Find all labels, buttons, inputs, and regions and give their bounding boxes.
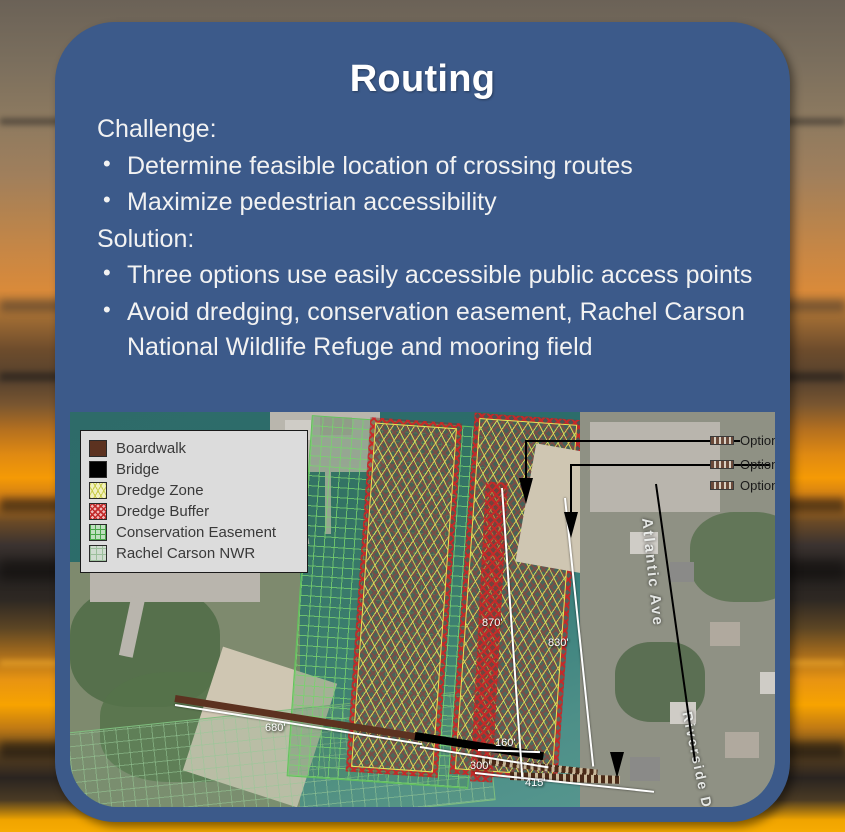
- building: [725, 732, 759, 758]
- challenge-bullet-list: Determine feasible location of crossing …: [97, 149, 767, 221]
- option-1-swatch: [710, 481, 734, 490]
- building: [760, 672, 775, 694]
- legend-item: Rachel Carson NWR: [89, 543, 299, 564]
- building: [670, 562, 694, 582]
- legend-swatch-conservation-easement: [89, 524, 107, 541]
- option-2-label: Option 2: [740, 457, 775, 472]
- legend-item: Dredge Zone: [89, 480, 299, 501]
- legend-swatch-dredge-zone: [89, 482, 107, 499]
- aerial-map: Atlantic Ave Riverside Dr 680' 300' 160'…: [70, 412, 775, 807]
- legend-item: Dredge Buffer: [89, 501, 299, 522]
- measurement-label: 830': [548, 637, 568, 649]
- legend-label: Conservation Easement: [116, 524, 276, 541]
- legend-label: Dredge Zone: [116, 482, 204, 499]
- list-item: Determine feasible location of crossing …: [97, 149, 767, 185]
- vegetation: [690, 512, 775, 602]
- list-item: Maximize pedestrian accessibility: [97, 185, 767, 221]
- legend-item: Boardwalk: [89, 438, 299, 459]
- legend-swatch-boardwalk: [89, 440, 107, 457]
- measurement-label: 680': [265, 722, 285, 734]
- section-heading-challenge: Challenge:: [97, 112, 767, 148]
- building: [710, 622, 740, 646]
- callout-arrow-option-1: [610, 752, 624, 778]
- parking-lot-right: [590, 422, 720, 512]
- legend-label: Boardwalk: [116, 440, 186, 457]
- building: [630, 757, 660, 781]
- option-1-label: Option 1: [740, 478, 775, 493]
- list-item: Avoid dredging, conservation easement, R…: [97, 295, 767, 366]
- section-heading-solution: Solution:: [97, 222, 767, 258]
- legend-label: Rachel Carson NWR: [116, 545, 255, 562]
- option-3-swatch: [710, 436, 734, 445]
- legend-swatch-bridge: [89, 461, 107, 478]
- legend-label: Bridge: [116, 461, 159, 478]
- legend-item: Bridge: [89, 459, 299, 480]
- leader-line-option-2: [570, 464, 572, 514]
- measurement-label: 300': [470, 760, 490, 772]
- legend-label: Dredge Buffer: [116, 503, 209, 520]
- content-panel: Routing Challenge: Determine feasible lo…: [55, 22, 790, 822]
- map-canvas: Atlantic Ave Riverside Dr 680' 300' 160'…: [70, 412, 775, 807]
- legend-item: Conservation Easement: [89, 522, 299, 543]
- callout-arrow-option-2: [564, 512, 578, 538]
- measurement-label: 415': [525, 777, 545, 789]
- map-legend: Boardwalk Bridge Dredge Zone Dredge Buff…: [80, 430, 308, 573]
- leader-line-option-3: [525, 440, 527, 480]
- option-3-label: Option 3: [740, 433, 775, 448]
- slide-body: Challenge: Determine feasible location o…: [97, 112, 767, 367]
- option-2-swatch: [710, 460, 734, 469]
- legend-swatch-rachel-carson-nwr: [89, 545, 107, 562]
- leader-line-option-3: [525, 440, 740, 442]
- page-title: Routing: [55, 58, 790, 101]
- legend-swatch-dredge-buffer: [89, 503, 107, 520]
- measurement-label: 870': [482, 617, 502, 629]
- solution-bullet-list: Three options use easily accessible publ…: [97, 258, 767, 366]
- measurement-label: 160': [495, 737, 515, 749]
- list-item: Three options use easily accessible publ…: [97, 258, 767, 294]
- callout-arrow-option-3: [519, 478, 533, 504]
